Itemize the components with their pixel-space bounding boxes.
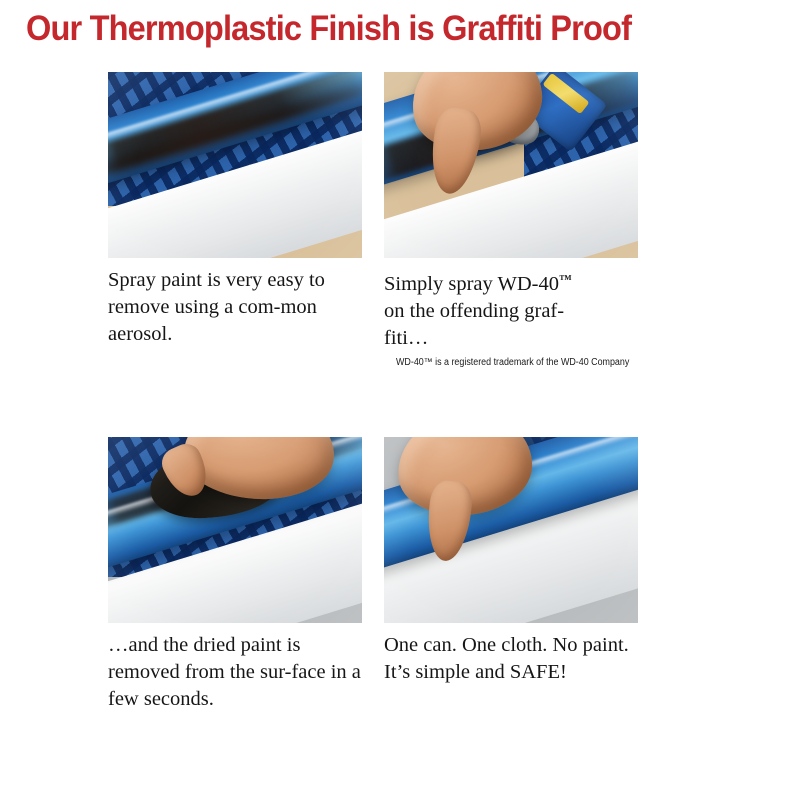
panel-3: …and the dried paint is removed from the… xyxy=(108,437,362,713)
caption-text: Simply spray WD-40™ on the offending gra… xyxy=(384,267,638,352)
caption-text: …and the dried paint is removed from the… xyxy=(108,632,362,713)
photo-caption-grid: Spray paint is very easy to remove using… xyxy=(108,72,632,732)
panel-1: Spray paint is very easy to remove using… xyxy=(108,72,362,348)
photo-clean-surface xyxy=(384,437,638,623)
photo-vignette xyxy=(108,437,362,623)
caption-line-3: fiti… xyxy=(384,327,428,349)
caption-text: Spray paint is very easy to remove using… xyxy=(108,267,362,348)
trademark-footnote: WD-40™ is a registered trademark of the … xyxy=(396,357,619,369)
caption-line-2: on the offending graf- xyxy=(384,300,564,322)
caption-text: One can. One cloth. No paint. It’s simpl… xyxy=(384,632,638,686)
photo-vignette xyxy=(384,437,638,623)
photo-vignette xyxy=(384,72,638,258)
trademark-symbol: ™ xyxy=(559,273,572,287)
photo-vignette xyxy=(108,72,362,258)
photo-graffiti-on-bench xyxy=(108,72,362,258)
panel-4: One can. One cloth. No paint. It’s simpl… xyxy=(384,437,638,686)
page-title: Our Thermoplastic Finish is Graffiti Pro… xyxy=(26,8,677,50)
photo-wiping-with-cloth xyxy=(108,437,362,623)
photo-spraying-wd40 xyxy=(384,72,638,258)
caption-line-1: Simply spray WD-40™ xyxy=(384,273,572,295)
panel-2: Simply spray WD-40™ on the offending gra… xyxy=(384,72,638,369)
